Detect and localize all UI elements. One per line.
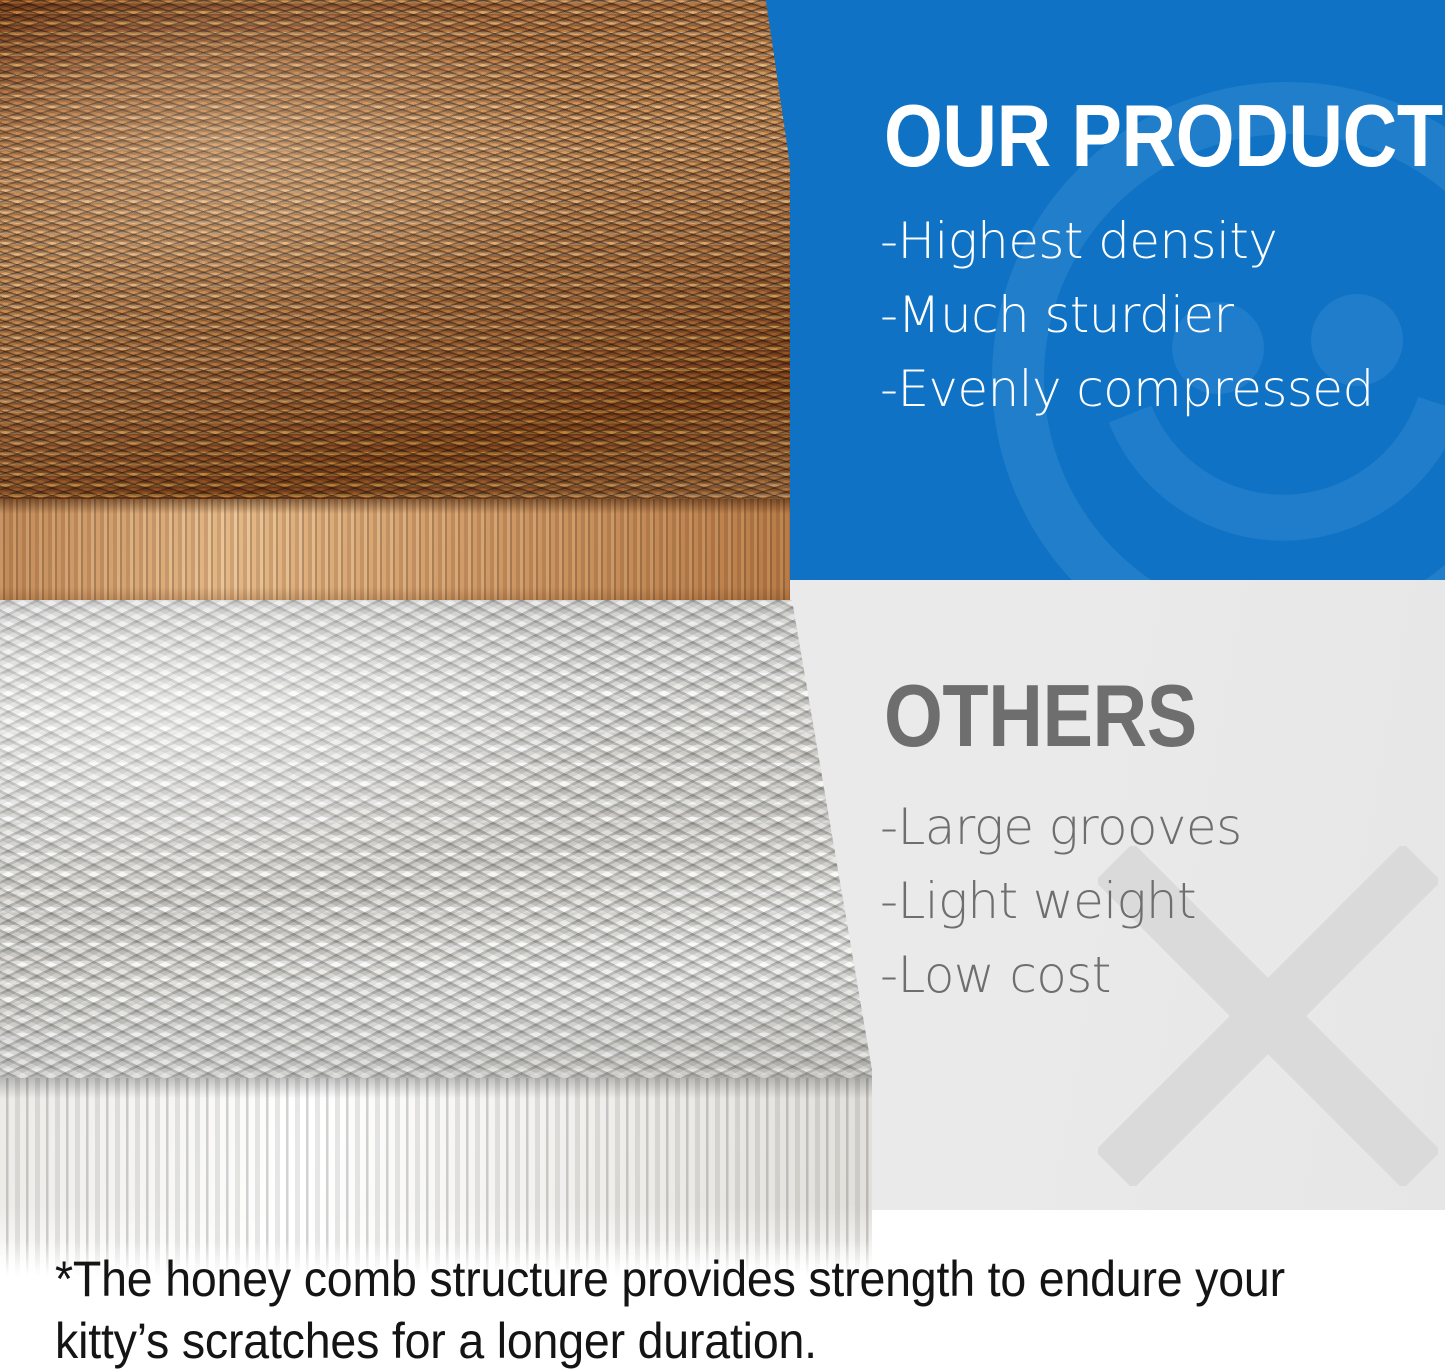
infographic-canvas: OUR PRODUCT -Highest density -Much sturd… [0,0,1445,1371]
our-product-image [0,0,790,606]
our-product-heading: OUR PRODUCT [884,92,1443,180]
others-bullet: -Large grooves [880,790,1242,864]
others-product-face-shading [0,600,886,1078]
our-product-bullet-list: -Highest density -Much sturdier -Evenly … [880,204,1374,426]
others-bullet: -Low cost [880,938,1242,1012]
footnote-text: *The honey comb structure provides stren… [55,1248,1306,1371]
our-product-bullet: -Highest density [880,204,1374,278]
our-product-honeycomb-face [0,0,790,499]
others-product-honeycomb-face [0,600,886,1078]
others-bullet: -Light weight [880,864,1242,938]
our-product-edge-face [0,499,790,606]
our-product-bullet: -Much sturdier [880,278,1374,352]
others-heading: OTHERS [884,672,1197,760]
our-product-bullet: -Evenly compressed [880,352,1374,426]
our-product-face-shading [0,0,790,499]
others-bullet-list: -Large grooves -Light weight -Low cost [880,790,1242,1012]
others-product-image [0,600,886,1290]
